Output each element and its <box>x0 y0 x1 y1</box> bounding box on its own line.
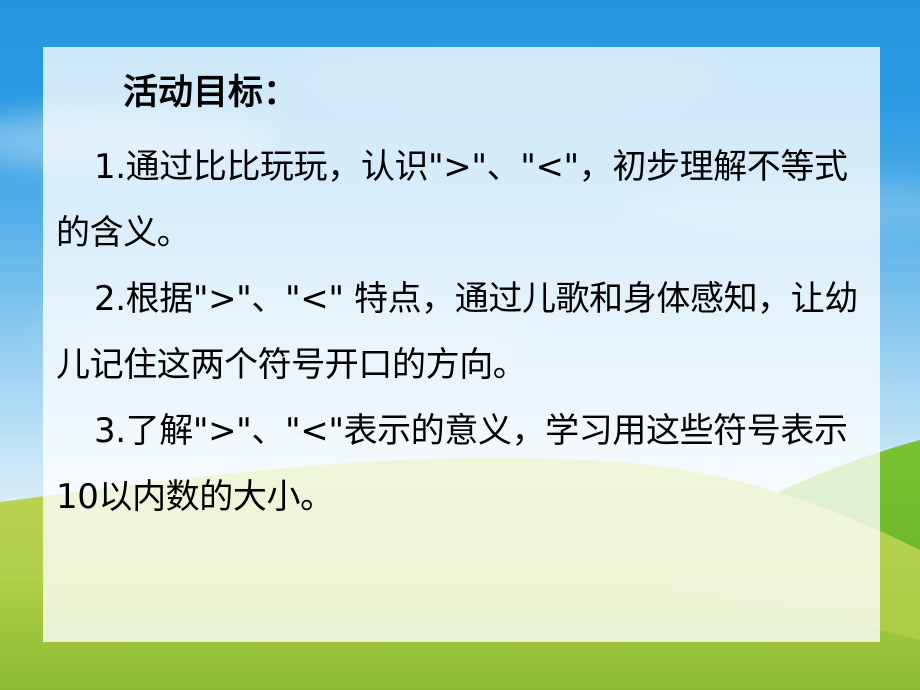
objective-item-1: 1.通过比比玩玩，认识">"、"<"，初步理解不等式的含义。 <box>51 134 872 266</box>
page-title: 活动目标： <box>123 73 872 114</box>
objective-item-2: 2.根据">"、"<" 特点，通过儿歌和身体感知，让幼儿记住这两个符号开口的方向… <box>51 266 872 398</box>
objective-item-3: 3.了解">"、"<"表示的意义，学习用这些符号表示10以内数的大小。 <box>51 398 872 530</box>
content-card-inner: 活动目标： 1.通过比比玩玩，认识">"、"<"，初步理解不等式的含义。 2.根… <box>43 47 880 642</box>
content-card: 活动目标： 1.通过比比玩玩，认识">"、"<"，初步理解不等式的含义。 2.根… <box>43 47 880 642</box>
slide-canvas: 活动目标： 1.通过比比玩玩，认识">"、"<"，初步理解不等式的含义。 2.根… <box>0 0 920 690</box>
